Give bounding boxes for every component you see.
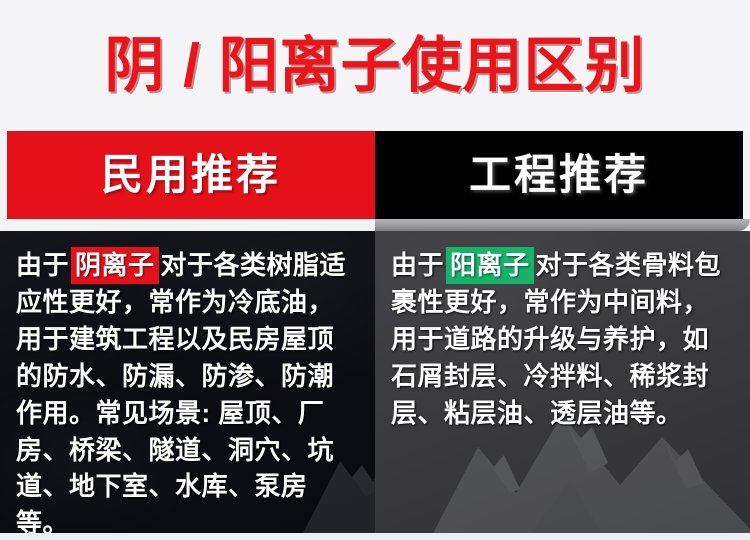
banner-civil-label: 民用推荐	[101, 154, 281, 196]
civil-highlight-term: 阴离子	[71, 247, 159, 284]
shelf-left	[0, 219, 375, 231]
panel-civil: 由于阴离子对于各类树脂适应性更好，常作为冷底油，用于建筑工程以及民房屋顶的防水、…	[0, 231, 375, 533]
shelf-right	[375, 219, 750, 231]
engineering-highlight-term: 阳离子	[446, 247, 534, 284]
page-title: 阴 / 阳离子使用区别	[104, 36, 645, 96]
panel-engineering-text: 由于阳离子对于各类骨料包裹性更好，常作为中间料，用于道路的升级与养护，如石屑封层…	[375, 231, 750, 432]
civil-text-after: 对于各类树脂适应性更好，常作为冷底油，用于建筑工程以及民房屋顶的防水、防漏、防渗…	[16, 250, 346, 533]
banner-engineering-label: 工程推荐	[469, 154, 649, 196]
panel-engineering: 由于阳离子对于各类骨料包裹性更好，常作为中间料，用于道路的升级与养护，如石屑封层…	[375, 231, 750, 533]
banner-row: 民用推荐 工程推荐	[0, 131, 750, 219]
banner-civil: 民用推荐	[7, 131, 375, 219]
content-panels: 由于阴离子对于各类树脂适应性更好，常作为冷底油，用于建筑工程以及民房屋顶的防水、…	[0, 231, 750, 533]
title-bar: 阴 / 阳离子使用区别	[0, 0, 750, 131]
civil-text-before: 由于	[16, 250, 69, 280]
bottom-strip	[0, 533, 750, 540]
infographic-page: 阴 / 阳离子使用区别 民用推荐 工程推荐 由于阴离子对于各类树脂适应性更好，常…	[0, 0, 750, 540]
banner-engineering: 工程推荐	[375, 131, 743, 219]
engineering-text-before: 由于	[391, 250, 444, 280]
panel-civil-text: 由于阴离子对于各类树脂适应性更好，常作为冷底油，用于建筑工程以及民房屋顶的防水、…	[0, 231, 375, 533]
